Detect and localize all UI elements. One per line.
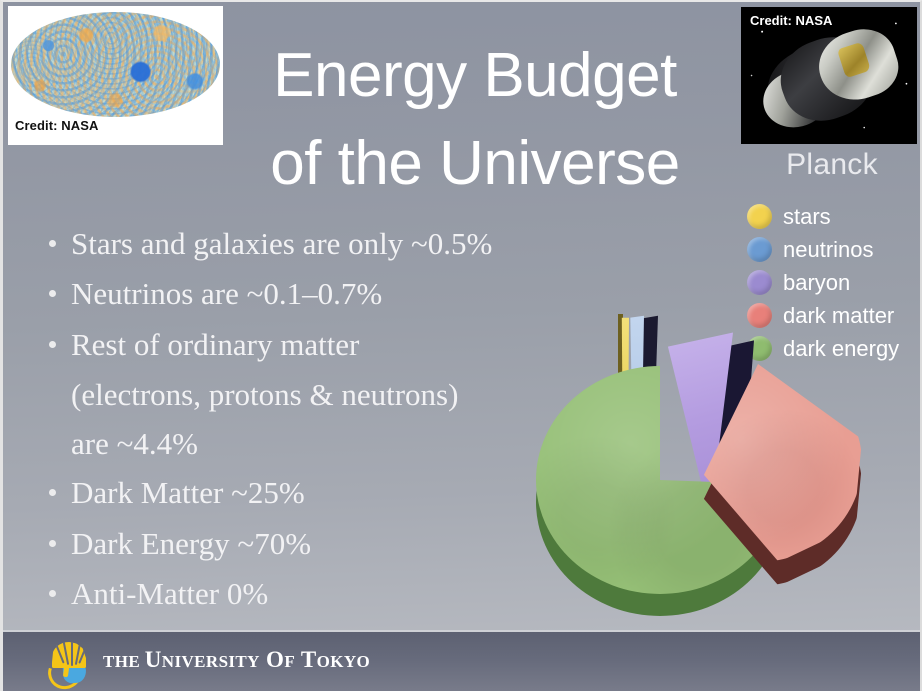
legend-label-neutrinos: neutrinos: [783, 237, 874, 263]
bullet-text-neutrinos: Neutrinos are ~0.1–0.7%: [71, 274, 382, 314]
legend-item-stars: stars: [747, 200, 922, 233]
legend-swatch-neutrinos: [747, 237, 772, 262]
bullet-text-dark-matter: Dark Matter ~25%: [71, 473, 305, 513]
presentation-slide: Credit: NASA Energy Budget of the Univer…: [0, 0, 922, 691]
bullet-marker: [49, 341, 56, 348]
bullet-marker: [49, 540, 56, 547]
legend-swatch-baryon: [747, 270, 772, 295]
planck-caption: Planck: [752, 148, 912, 182]
title-line-1: Energy Budget: [225, 32, 725, 120]
legend-item-baryon: baryon: [747, 266, 922, 299]
bullet-text-anti-matter: Anti-Matter 0%: [71, 574, 268, 614]
planck-image-card: Credit: NASA: [741, 7, 917, 144]
cmb-credit-label: Credit: NASA: [15, 118, 99, 133]
title-line-2: of the Universe: [225, 120, 725, 208]
bullet-marker: [49, 489, 56, 496]
bullet-marker: [49, 240, 56, 247]
legend-label-baryon: baryon: [783, 270, 850, 296]
cmb-image-card: Credit: NASA: [8, 6, 223, 145]
bullet-marker: [49, 290, 56, 297]
legend-label-stars: stars: [783, 204, 831, 230]
university-title: UNIVERSITY OF TOKYO: [145, 647, 370, 672]
university-name: THE UNIVERSITY OF TOKYO: [103, 647, 370, 673]
bullet-text-stars: Stars and galaxies are only ~0.5%: [71, 224, 492, 264]
logo-ginkgo-fan: [52, 642, 86, 668]
cmb-mollweide-map-icon: [11, 12, 220, 117]
planck-credit-label: Credit: NASA: [750, 13, 832, 28]
slide-footer: THE UNIVERSITY OF TOKYO: [3, 630, 922, 691]
bullet-marker: [49, 590, 56, 597]
university-of-tokyo-ginkgo-logo-icon: [43, 640, 93, 684]
legend-swatch-stars: [747, 204, 772, 229]
university-the: THE: [103, 652, 145, 671]
legend-item-neutrinos: neutrinos: [747, 233, 922, 266]
energy-budget-pie-chart: [522, 302, 862, 632]
page-title: Energy Budget of the Universe: [225, 32, 725, 208]
bullet-text-dark-energy: Dark Energy ~70%: [71, 524, 311, 564]
bullet-text-ordinary-matter: Rest of ordinary matter: [71, 325, 359, 365]
list-item: Stars and galaxies are only ~0.5%: [41, 224, 621, 264]
